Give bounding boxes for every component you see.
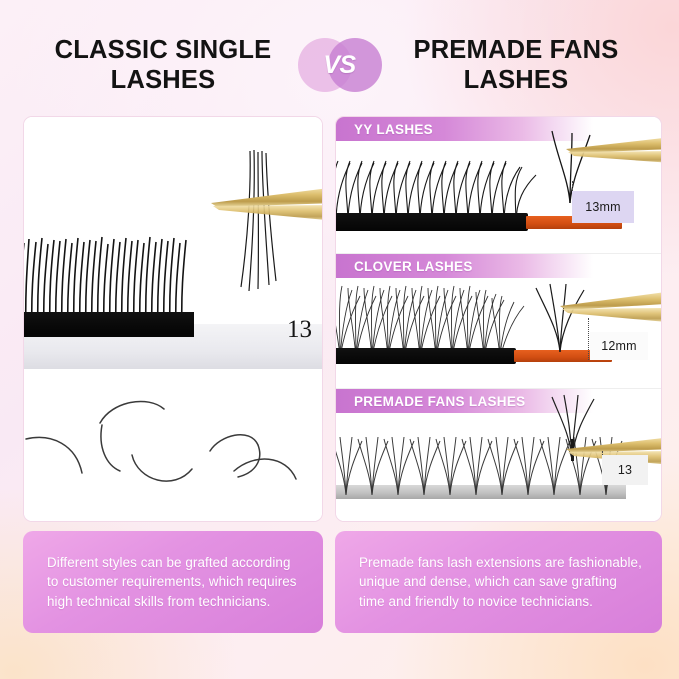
right-caption-text: Premade fans lash extensions are fashion… [335, 553, 662, 610]
section-yy-lashes: YY LASHES [336, 117, 661, 253]
clover-lashes-image: 12mm [336, 254, 661, 388]
comparison-header: CLASSIC SINGLE LASHES VS PREMADE FANS LA… [0, 26, 679, 104]
size-label-13: 13 [287, 316, 312, 344]
tweezer-icon [209, 183, 322, 233]
tweezer-icon [558, 290, 661, 332]
section-premade-fans-lashes: PREMADE FANS LASHES [336, 388, 661, 522]
right-caption-box: Premade fans lash extensions are fashion… [335, 531, 662, 633]
single-lash-strands-image [24, 369, 322, 522]
yy-strip-base [336, 213, 528, 231]
tweezer-icon [564, 135, 661, 171]
premade-fans-lashes-card: YY LASHES [335, 116, 662, 522]
measure-badge-premade: 13 [602, 455, 648, 485]
classic-lash-tray-image: 13 [24, 117, 322, 369]
classic-single-lashes-card: 13 [23, 116, 323, 522]
right-panel-title: PREMADE FANS LASHES [382, 35, 647, 95]
section-clover-lashes: CLOVER LASHES [336, 253, 661, 388]
left-panel-title: CLASSIC SINGLE LASHES [33, 35, 298, 95]
clover-strip-base [336, 348, 516, 364]
lash-strip-base [24, 312, 194, 334]
vs-badge: VS [298, 34, 382, 96]
curved-lash-strands [24, 369, 323, 522]
premade-fans-image: 13 [336, 389, 661, 522]
measure-badge-yy: 13mm [572, 191, 634, 223]
left-caption-text: Different styles can be grafted accordin… [23, 553, 323, 610]
clover-measure-tick [588, 318, 589, 360]
left-caption-box: Different styles can be grafted accordin… [23, 531, 323, 633]
vs-label: VS [323, 51, 355, 80]
measure-badge-clover: 12mm [590, 332, 648, 360]
yy-lashes-image: 13mm [336, 117, 661, 253]
